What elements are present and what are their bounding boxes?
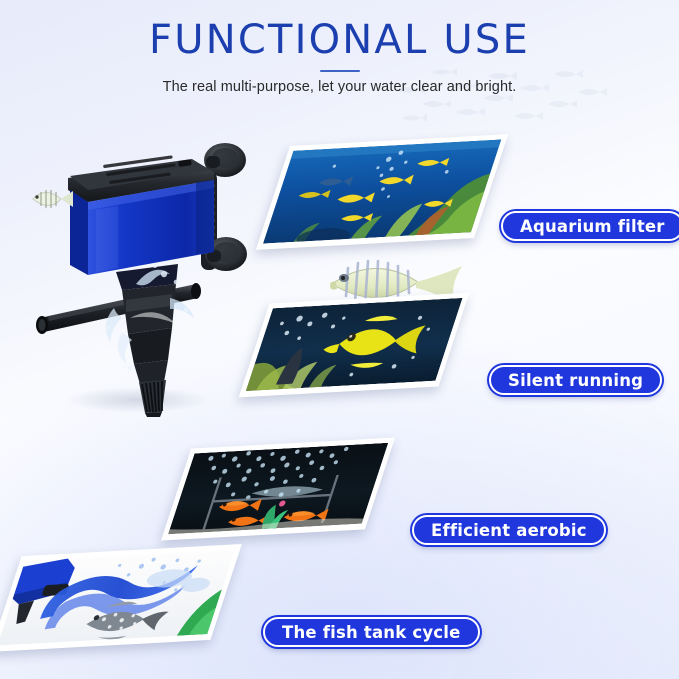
feature-photo-wrap-3 [178,443,378,535]
feature-photo-2 [239,293,470,398]
feature-photo-4 [0,544,242,652]
product-image-pump [18,132,268,417]
feature-photo-wrap-2 [256,298,452,392]
feature-photo-wrap-1 [275,140,489,244]
badge-fish-tank-cycle[interactable]: The fish tank cycle [263,617,480,647]
feature-photo-1 [256,134,508,250]
badge-silent-running[interactable]: Silent running [489,365,662,395]
feature-photo-wrap-4 [8,550,224,646]
page-header: FUNCTIONAL USE The real multi-purpose, l… [0,0,679,95]
title-divider [320,70,360,72]
badge-aquarium-filter[interactable]: Aquarium filter [501,211,679,241]
badge-efficient-aerobic[interactable]: Efficient aerobic [412,515,606,545]
feature-photo-3 [161,437,395,540]
page-subtitle: The real multi-purpose, let your water c… [0,79,679,95]
page-title: FUNCTIONAL USE [0,0,679,61]
